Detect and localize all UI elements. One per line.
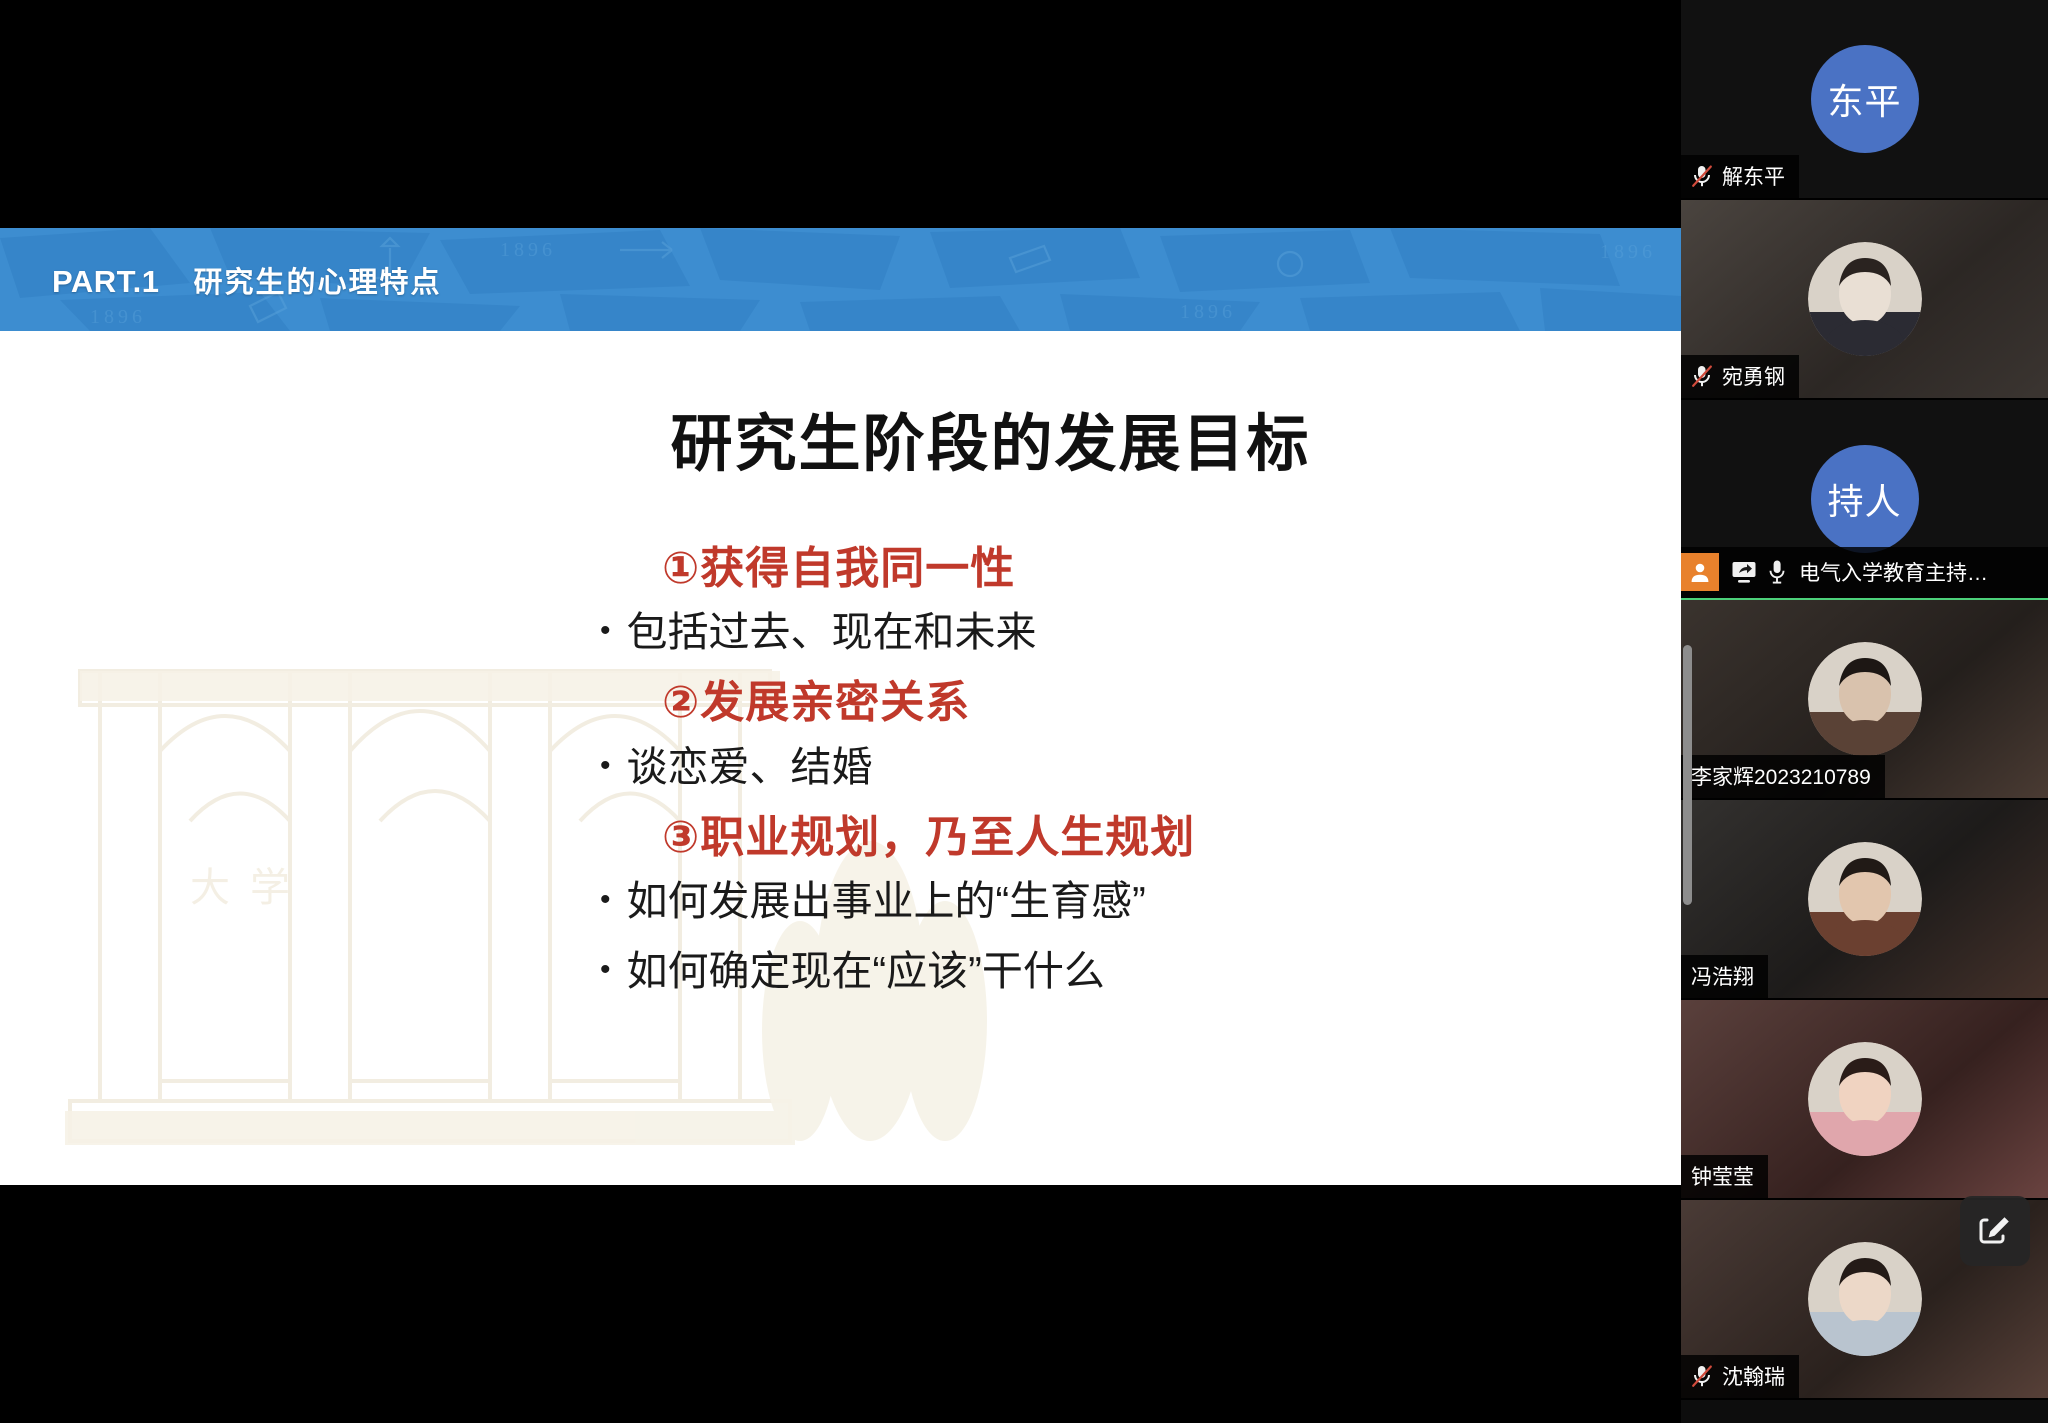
microphone-muted-icon xyxy=(1691,1364,1713,1388)
content-bullet-text: 包括过去、现在和未来 xyxy=(627,605,1037,659)
content-heading: ②发展亲密关系 xyxy=(662,675,1600,731)
content-heading: ③职业规划，乃至人生规划 xyxy=(662,810,1600,866)
slide-section-banner: 1896 1896 1896 1896 PART.1 xyxy=(0,228,1681,331)
participant-name: 宛勇钢 xyxy=(1722,361,1785,391)
microphone-muted-icon xyxy=(1691,164,1713,188)
filmstrip-scroll-thumb[interactable] xyxy=(1683,645,1692,905)
content-bullet-text: 如何确定现在“应该”干什么 xyxy=(627,944,1105,998)
bullet-dot-icon: • xyxy=(600,616,611,646)
participant-name-bar: 钟莹莹 xyxy=(1681,1155,1768,1198)
participant-tile[interactable]: 冯浩翔 xyxy=(1681,800,2048,1000)
participant-tile-list: 东平解东平宛勇钢持人电气入学教育主持…李家辉2023210789冯浩翔钟莹莹沈翰… xyxy=(1681,0,2048,1400)
slide-content-list: ①获得自我同一性 • 包括过去、现在和未来 ②发展亲密关系 • 谈恋爱、结婚 xyxy=(600,541,1600,1014)
bullet-dot-icon: • xyxy=(600,885,611,915)
participant-name-bar: 电气入学教育主持… xyxy=(1681,547,2048,598)
avatar-initials: 持人 xyxy=(1811,445,1919,553)
avatar-photo xyxy=(1808,242,1922,356)
content-bullet-text: 如何发展出事业上的“生育感” xyxy=(627,874,1146,928)
participant-name-bar: 李家辉2023210789 xyxy=(1681,755,1885,798)
slide-body: 大 学 研究生阶段的发展目标 ①获得自我同一性 • 包括过去、现在和未来 xyxy=(0,331,1681,1185)
content-bullet: • 包括过去、现在和未来 xyxy=(600,605,1600,659)
filmstrip-scrollbar[interactable] xyxy=(1682,0,1691,1423)
screen-share-icon xyxy=(1731,560,1757,584)
participant-name-bar: 沈翰瑞 xyxy=(1681,1355,1799,1398)
svg-text:1896: 1896 xyxy=(1600,241,1656,263)
content-group-2: ②发展亲密关系 • 谈恋爱、结婚 xyxy=(600,675,1600,793)
slide-section-title: 研究生的心理特点 xyxy=(194,259,442,301)
participant-tile[interactable]: 钟莹莹 xyxy=(1681,1000,2048,1200)
participant-tile[interactable]: 东平解东平 xyxy=(1681,0,2048,200)
participant-name: 李家辉2023210789 xyxy=(1691,761,1871,791)
bullet-dot-icon: • xyxy=(600,751,611,781)
participant-tile[interactable]: 李家辉2023210789 xyxy=(1681,600,2048,800)
participant-tile[interactable]: 持人电气入学教育主持… xyxy=(1681,400,2048,600)
avatar-photo xyxy=(1808,642,1922,756)
svg-text:1896: 1896 xyxy=(500,239,556,261)
content-bullet: • 谈恋爱、结婚 xyxy=(600,740,1600,794)
avatar-photo xyxy=(1808,1242,1922,1356)
content-bullet-text: 谈恋爱、结婚 xyxy=(627,740,873,794)
content-heading: ①获得自我同一性 xyxy=(662,541,1600,597)
participant-name: 解东平 xyxy=(1722,161,1785,191)
participant-name: 钟莹莹 xyxy=(1691,1161,1754,1191)
content-bullet: • 如何确定现在“应该”干什么 xyxy=(600,944,1600,998)
participant-name-bar: 宛勇钢 xyxy=(1681,355,1799,398)
banner-label-group: PART.1 研究生的心理特点 xyxy=(52,259,442,301)
avatar-photo xyxy=(1808,1042,1922,1156)
svg-text:大: 大 xyxy=(190,865,230,910)
svg-text:学: 学 xyxy=(250,865,290,910)
participant-name: 冯浩翔 xyxy=(1691,961,1754,991)
participant-name: 电气入学教育主持… xyxy=(1799,557,2002,587)
slide-title: 研究生阶段的发展目标 xyxy=(0,393,1681,483)
content-bullet: • 如何发展出事业上的“生育感” xyxy=(600,874,1600,928)
slide-part-number: PART.1 xyxy=(52,264,160,300)
microphone-on-icon xyxy=(1767,559,1787,585)
participant-name: 沈翰瑞 xyxy=(1722,1361,1785,1391)
svg-text:1896: 1896 xyxy=(90,306,146,328)
presentation-slide: 1896 1896 1896 1896 PART.1 xyxy=(0,228,1681,1185)
content-group-3: ③职业规划，乃至人生规划 • 如何发展出事业上的“生育感” • 如何确定现在“应… xyxy=(600,810,1600,999)
microphone-muted-icon xyxy=(1691,364,1713,388)
screen-share-viewport[interactable]: 1896 1896 1896 1896 PART.1 xyxy=(0,0,1681,1423)
participant-filmstrip[interactable]: 东平解东平宛勇钢持人电气入学教育主持…李家辉2023210789冯浩翔钟莹莹沈翰… xyxy=(1681,0,2048,1423)
avatar-initials: 东平 xyxy=(1811,45,1919,153)
svg-text:1896: 1896 xyxy=(1180,301,1236,323)
meeting-window: 1896 1896 1896 1896 PART.1 xyxy=(0,0,2048,1423)
annotate-pencil-icon xyxy=(1977,1213,2013,1249)
participant-tile[interactable]: 宛勇钢 xyxy=(1681,200,2048,400)
bullet-dot-icon: • xyxy=(600,955,611,985)
content-group-1: ①获得自我同一性 • 包括过去、现在和未来 xyxy=(600,541,1600,659)
avatar-photo xyxy=(1808,842,1922,956)
participant-name-bar: 解东平 xyxy=(1681,155,1799,198)
participant-name-bar: 冯浩翔 xyxy=(1681,955,1768,998)
annotate-button[interactable] xyxy=(1960,1196,2030,1266)
